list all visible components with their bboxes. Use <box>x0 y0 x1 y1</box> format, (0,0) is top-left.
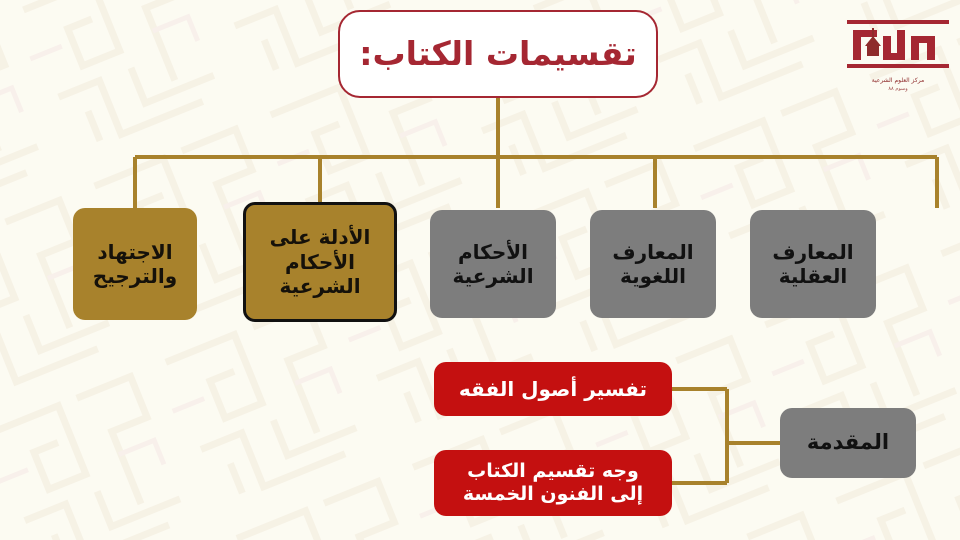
node-maarif-aqliya[interactable]: المعارفالعقلية <box>750 210 876 318</box>
logo-subtitle-small: وسوم ٨٨ <box>845 86 951 93</box>
page-title: تقسيمات الكتاب: <box>338 10 658 98</box>
node-ahkam-shariya[interactable]: الأحكامالشرعية <box>430 210 556 318</box>
node-wajh-taqsim-al-kitab[interactable]: وجه تقسيم الكتابإلى الفنون الخمسة <box>434 450 672 516</box>
node-muqaddima-label: المقدمة <box>801 430 895 456</box>
brand-logo: مركز العلوم الشرعية وسوم ٨٨ <box>845 16 951 100</box>
logo-subtitle: مركز العلوم الشرعية <box>845 77 951 86</box>
node-wajh-taqsim-al-kitab-label: وجه تقسيم الكتابإلى الفنون الخمسة <box>457 460 649 506</box>
node-tafsir-usul-al-fiqh-label: تفسير أصول الفقه <box>453 377 653 401</box>
diagram-canvas: تقسيمات الكتاب: مركز العلوم الشرعية <box>0 0 960 540</box>
node-maarif-lughawiya[interactable]: المعارفاللغوية <box>590 210 716 318</box>
node-maarif-aqliya-label: المعارفالعقلية <box>766 240 859 289</box>
node-ijtihad-wa-tarjih[interactable]: الاجتهادوالترجيح <box>73 208 197 320</box>
node-adilla-ala-ahkam-label: الأدلة علىالأحكامالشرعية <box>264 225 377 298</box>
node-adilla-ala-ahkam[interactable]: الأدلة علىالأحكامالشرعية <box>243 202 397 322</box>
node-maarif-lughawiya-label: المعارفاللغوية <box>606 240 699 289</box>
node-ahkam-shariya-label: الأحكامالشرعية <box>446 240 539 289</box>
node-muqaddima[interactable]: المقدمة <box>780 408 916 478</box>
ihkam-wordmark-icon <box>845 16 951 72</box>
node-tafsir-usul-al-fiqh[interactable]: تفسير أصول الفقه <box>434 362 672 416</box>
node-ijtihad-wa-tarjih-label: الاجتهادوالترجيح <box>87 240 183 289</box>
page-title-text: تقسيمات الكتاب: <box>359 35 636 73</box>
